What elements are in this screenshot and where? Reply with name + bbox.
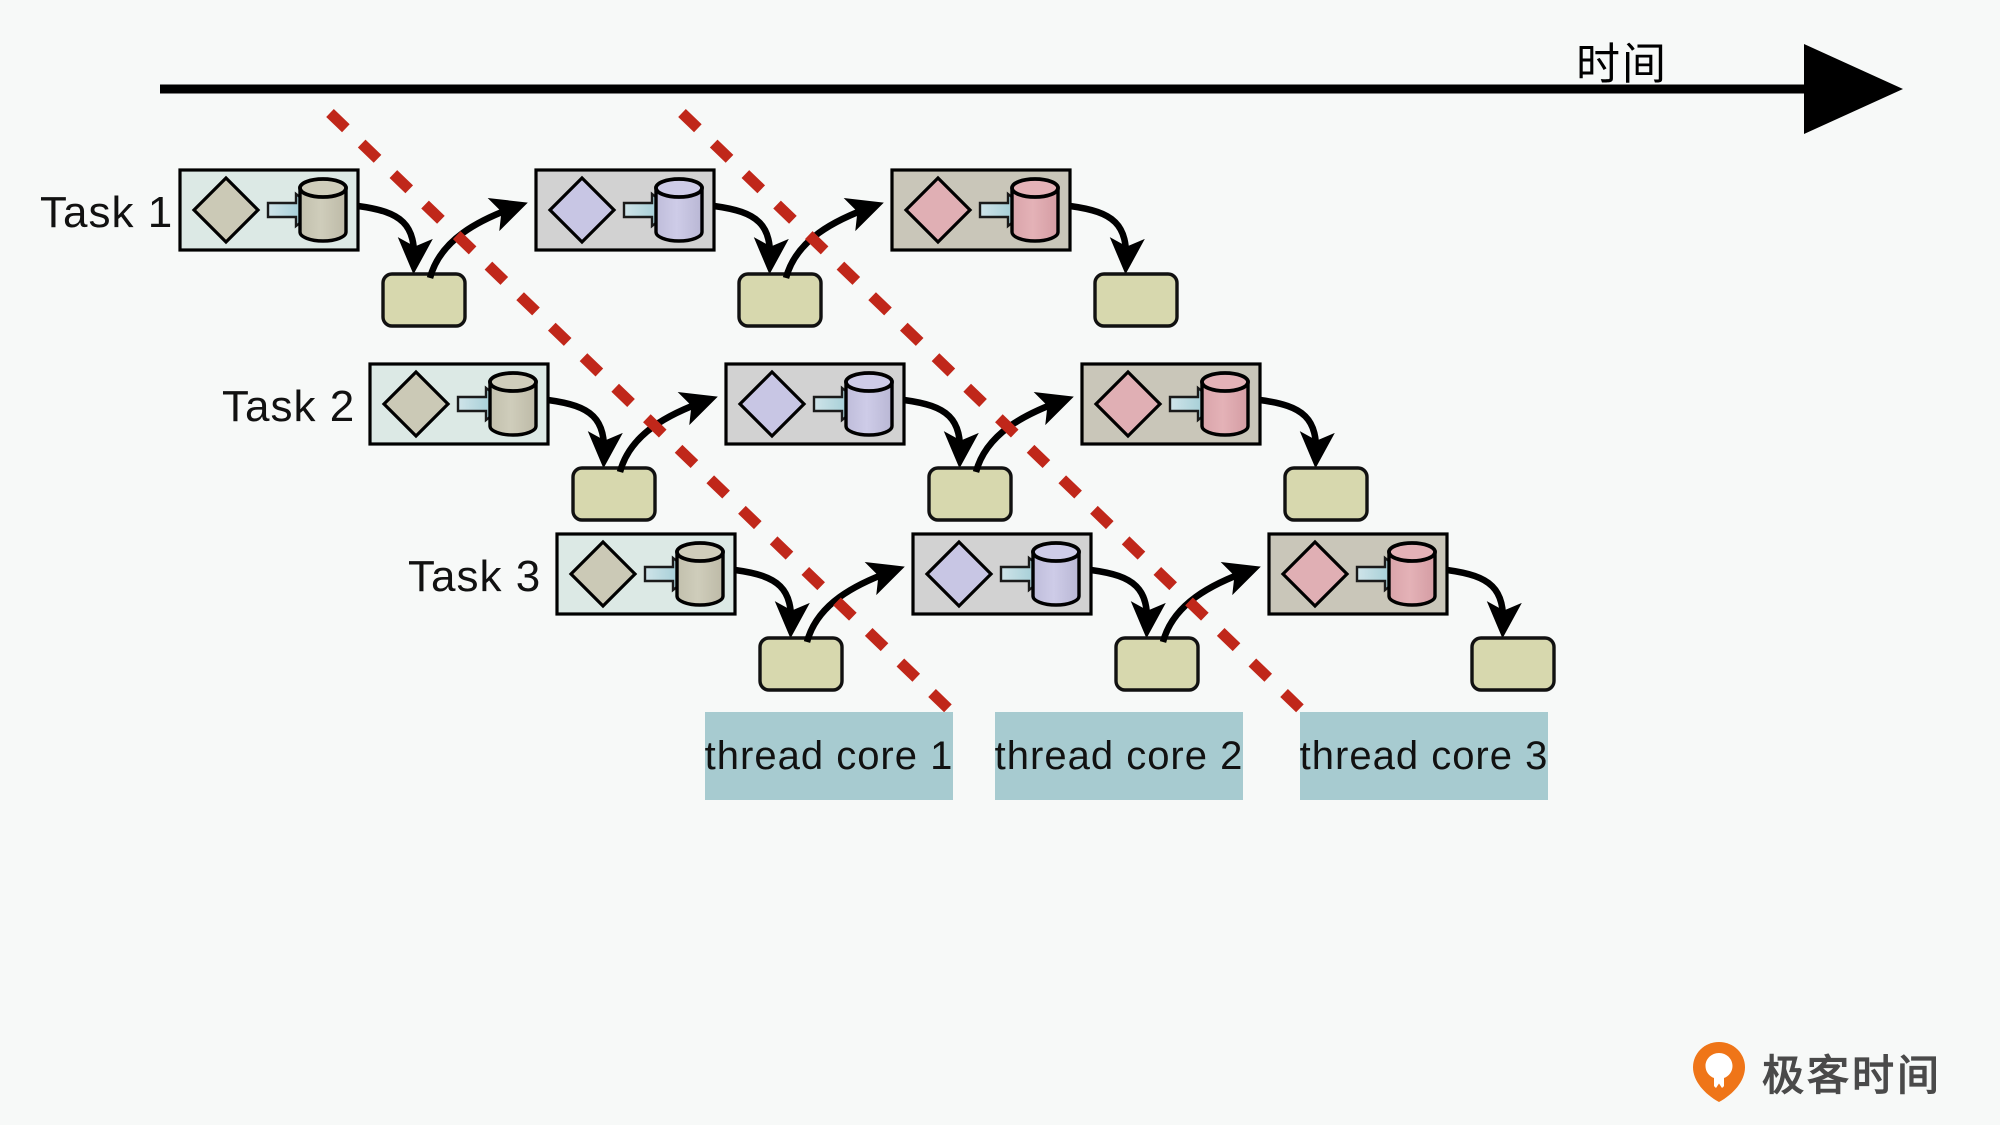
diagram-canvas: 时间 Task 1 Task 2 Task 3 thread core 1thr… [0, 0, 2000, 1125]
brand-logo-text: 极客时间 [1762, 1042, 1942, 1103]
core-divider-layer [0, 0, 2000, 1125]
brand-logo: 极客时间 [1690, 1040, 1942, 1104]
thread-core-label: thread core 3 [1300, 734, 1549, 779]
thread-core-box-2[interactable]: thread core 2 [995, 712, 1243, 800]
thread-core-box-1[interactable]: thread core 1 [705, 712, 953, 800]
divider-2 [682, 113, 1310, 718]
divider-1 [330, 113, 958, 718]
location-pin-icon [1690, 1040, 1748, 1104]
thread-core-label: thread core 2 [995, 734, 1244, 779]
thread-core-box-3[interactable]: thread core 3 [1300, 712, 1548, 800]
thread-core-label: thread core 1 [705, 734, 954, 779]
